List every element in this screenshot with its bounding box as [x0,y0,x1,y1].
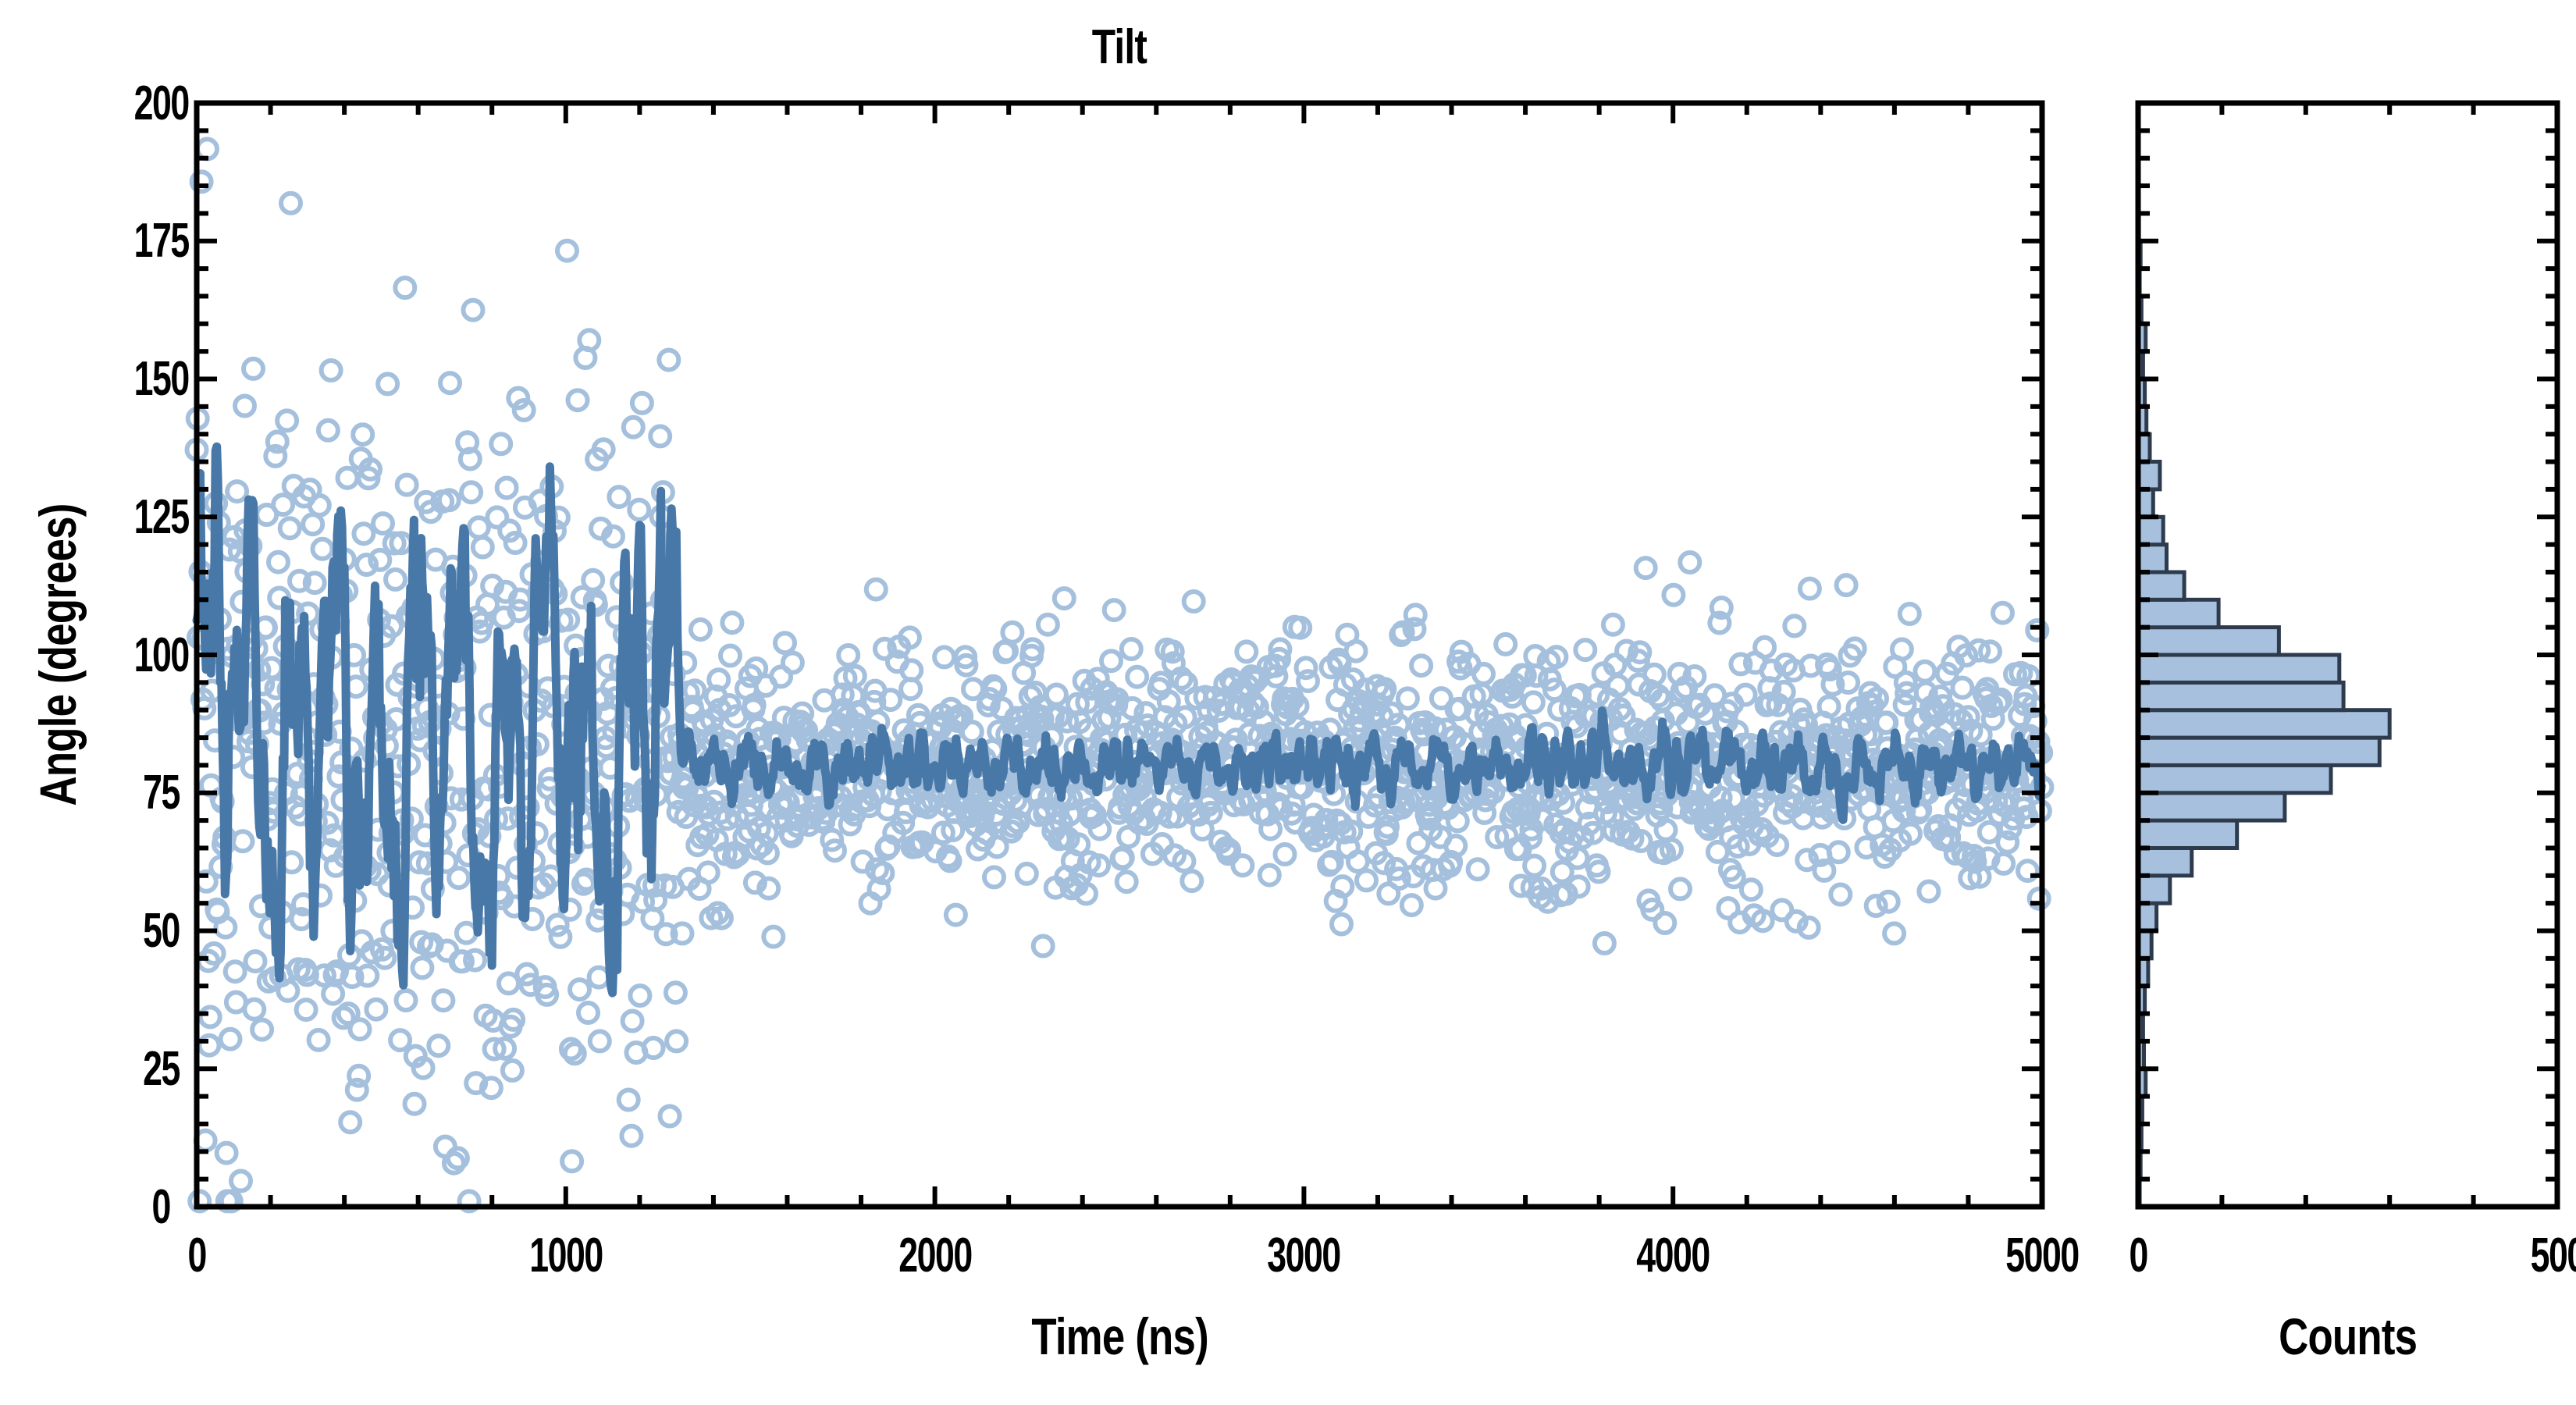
histogram-bar [2138,462,2160,489]
histogram-bar [2138,517,2163,544]
x-axis-title: Time (ns) [1031,1307,1208,1366]
histogram-bar [2138,545,2167,572]
x-tick-label-3000: 3000 [1268,1228,1341,1283]
histogram-bar [2138,848,2192,876]
y-tick-label-0: 0 [152,1179,170,1235]
histogram-bar [2138,628,2279,655]
histogram-bar [2138,655,2339,682]
y-tick-label-25: 25 [143,1041,180,1097]
y-tick-label-150: 150 [133,351,188,407]
histogram-bar [2138,903,2157,930]
histogram-bar [2138,599,2218,627]
x-tick-label-5000: 5000 [2005,1228,2079,1283]
histogram-bar [2138,820,2237,848]
histogram-bar [2138,572,2184,599]
hist-x-tick-label-500: 500 [2530,1228,2576,1283]
histogram-bar [2138,682,2343,710]
y-tick-label-100: 100 [133,628,188,683]
histogram-bar [2138,710,2389,738]
hist-x-tick-label-0: 0 [2129,1228,2147,1283]
y-tick-label-50: 50 [143,903,180,959]
histogram-series [2138,213,2389,1207]
x-tick-label-2000: 2000 [898,1228,972,1283]
chart-title: Tilt [1092,20,1147,75]
y-axis-title: Angle (degrees) [28,503,87,806]
y-tick-label-125: 125 [133,489,188,545]
y-tick-label-200: 200 [133,76,188,131]
x-tick-label-0: 0 [188,1228,206,1283]
x-tick-label-1000: 1000 [529,1228,603,1283]
histogram-bar [2138,738,2379,765]
histogram-bar [2138,793,2285,820]
histogram-bar [2138,765,2331,792]
x-tick-label-4000: 4000 [1636,1228,1710,1283]
y-tick-label-75: 75 [143,765,180,820]
figure-root: 0100020003000400050000255075100125150175… [0,0,2576,1405]
histogram-bar [2138,876,2170,903]
y-tick-label-175: 175 [133,213,188,269]
hist-x-axis-title: Counts [2279,1307,2417,1366]
chart-canvas [0,0,2576,1405]
